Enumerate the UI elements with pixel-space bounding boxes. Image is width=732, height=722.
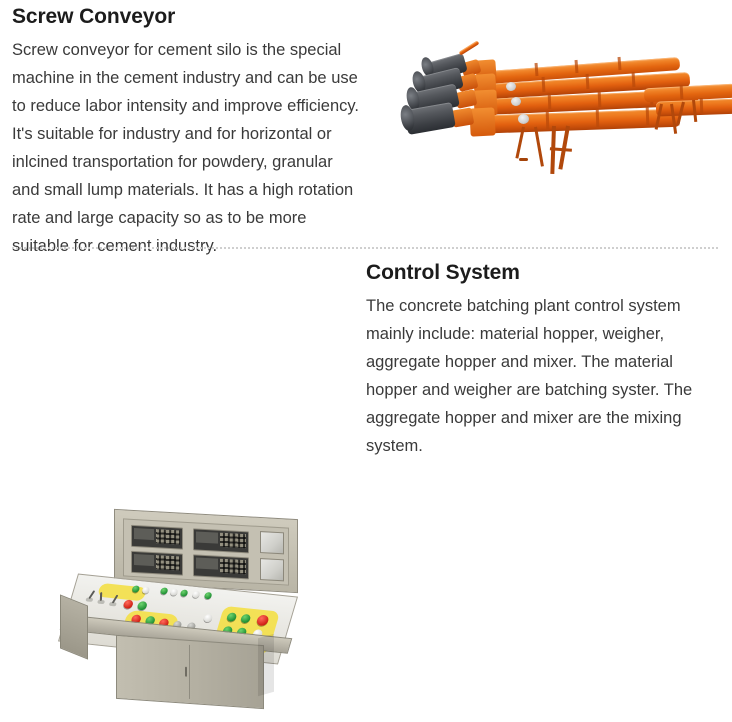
tube-flange	[618, 57, 622, 70]
display-module-3	[193, 528, 249, 553]
control-system-heading: Control System	[366, 260, 716, 286]
display-module-1	[131, 525, 183, 550]
screw-conveyor-photo	[370, 30, 732, 230]
display-screen	[196, 531, 218, 543]
control-console-photo	[22, 508, 352, 722]
inspection-plate	[518, 114, 529, 124]
display-keypad	[220, 559, 246, 575]
indicator-button[interactable]	[204, 592, 213, 600]
page-root: Screw Conveyor Screw conveyor for cement…	[0, 0, 732, 470]
support-leg-foot	[519, 158, 528, 161]
console-cabinet-body	[116, 635, 264, 709]
screw-conveyor-heading: Screw Conveyor	[12, 4, 360, 30]
console-side-panel	[60, 594, 88, 659]
indicator-button[interactable]	[170, 588, 179, 596]
indicator-button[interactable]	[141, 586, 150, 594]
tube-flange	[596, 109, 600, 127]
display-keypad	[156, 555, 180, 571]
display-screen	[134, 528, 154, 540]
display-keypad	[156, 529, 180, 545]
cabinet-door-handle[interactable]	[185, 667, 187, 677]
screw-conveyor-description: Screw conveyor for cement silo is the sp…	[12, 36, 360, 260]
cabinet-side-shadow	[258, 634, 274, 697]
display-screen	[134, 554, 154, 566]
display-keypad	[220, 533, 246, 549]
indicator-button[interactable]	[192, 591, 201, 599]
screw-conveyor-text-column: Screw Conveyor Screw conveyor for cement…	[12, 4, 360, 260]
display-module-2	[131, 551, 183, 576]
tube-flange	[546, 111, 550, 129]
tube-flange	[632, 72, 636, 87]
inspection-plate	[506, 82, 516, 91]
button-zone-highlight	[97, 583, 147, 601]
analog-meter-1	[260, 531, 284, 554]
tube-flange	[535, 63, 539, 76]
control-system-text-column: Control System The concrete batching pla…	[366, 260, 716, 460]
toggle-switch[interactable]	[100, 592, 102, 601]
section-divider	[12, 247, 718, 249]
section-screw-conveyor: Screw Conveyor Screw conveyor for cement…	[0, 0, 732, 248]
tube-flange	[575, 60, 579, 73]
tube-flange	[646, 107, 650, 125]
indicator-button[interactable]	[180, 589, 189, 597]
support-leg	[534, 127, 544, 167]
control-system-description: The concrete batching plant control syst…	[366, 292, 716, 460]
push-button[interactable]	[203, 614, 213, 623]
motor-arm	[459, 40, 480, 55]
section-control-system: Control System The concrete batching pla…	[0, 252, 732, 470]
push-button-stop[interactable]	[122, 599, 134, 609]
push-button-start[interactable]	[136, 601, 148, 611]
indicator-button[interactable]	[160, 587, 169, 595]
inspection-plate	[511, 97, 521, 106]
cabinet-door-seam[interactable]	[189, 645, 190, 699]
display-module-4	[193, 554, 249, 579]
tube-flange	[700, 98, 704, 113]
analog-meter-2	[260, 558, 284, 581]
display-screen	[196, 557, 218, 569]
